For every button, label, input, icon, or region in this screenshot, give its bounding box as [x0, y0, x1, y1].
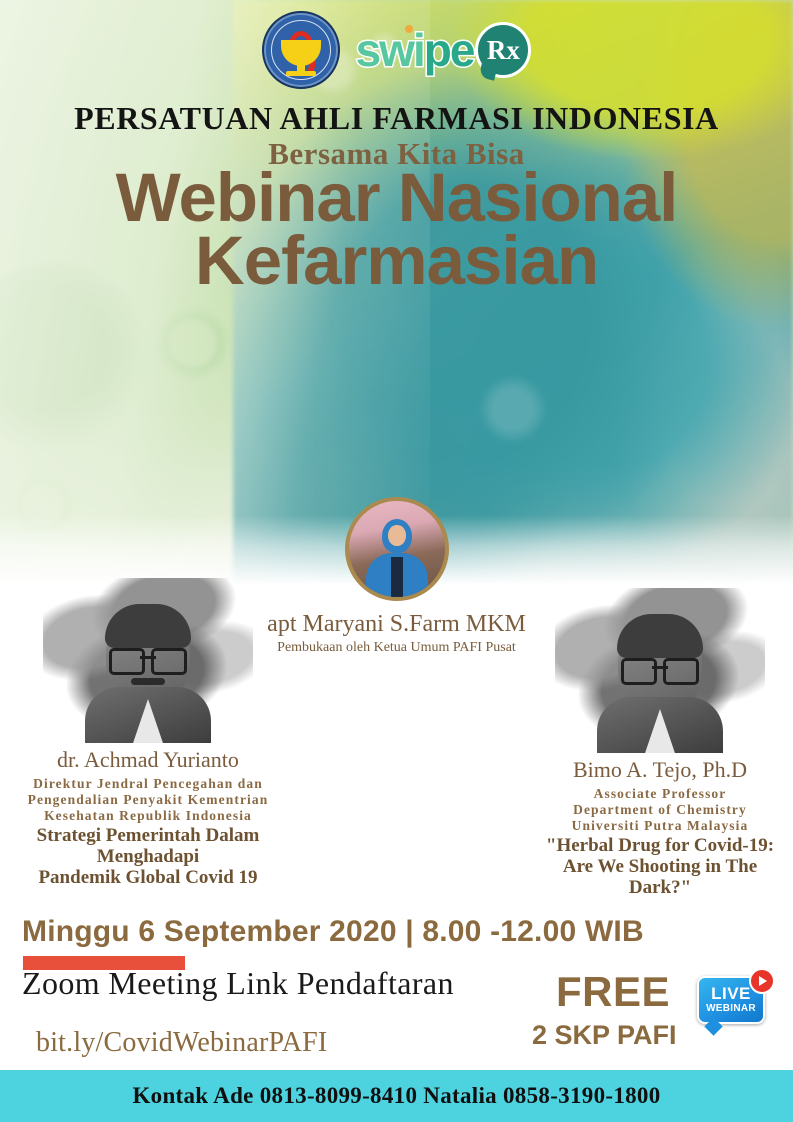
swipe-word-part2: pe: [424, 24, 474, 76]
credits-label: 2 SKP PAFI: [532, 1020, 677, 1051]
registration-link[interactable]: bit.ly/CovidWebinarPAFI: [36, 1027, 327, 1059]
pafi-logo-icon: [262, 11, 340, 89]
speaker-right-role: Associate Professor Department of Chemis…: [535, 786, 785, 834]
contact-bar: Kontak Ade 0813-8099-8410 Natalia 0858-3…: [0, 1070, 793, 1122]
speaker-left-topic-line-1: Strategi Pemerintah Dalam Menghadapi: [18, 826, 278, 868]
title-line-2: Kefarmasian: [0, 229, 793, 292]
speaker-right-topic-line-2: Are We Shooting in The Dark?": [535, 857, 785, 899]
center-speaker-subtitle: Pembukaan oleh Ketua Umum PAFI Pusat: [0, 640, 793, 656]
center-speaker-name: apt Maryani S.Farm MKM: [0, 611, 793, 638]
price-label: FREE: [556, 968, 670, 1016]
glasses-bridge: [140, 656, 156, 659]
pafi-base-icon: [286, 71, 316, 76]
rx-bubble-icon: Rx: [475, 22, 531, 78]
speaker-left-role-line-2: Pengendalian Penyakit Kementrian: [18, 792, 278, 808]
webinar-poster: swipe Rx PERSATUAN AHLI FARMASI INDONESI…: [0, 0, 793, 1122]
avatar-body: [366, 553, 428, 601]
live-badge-line-2: WEBINAR: [697, 1003, 765, 1014]
speaker-right-name: Bimo A. Tejo, Ph.D: [535, 757, 785, 783]
speaker-left-topic: Strategi Pemerintah Dalam Menghadapi Pan…: [18, 826, 278, 889]
speaker-right-role-line-3: Universiti Putra Malaysia: [535, 818, 785, 834]
schedule-text: Minggu 6 September 2020 | 8.00 -12.00 WI…: [22, 915, 644, 949]
organization-title: PERSATUAN AHLI FARMASI INDONESIA: [0, 100, 793, 137]
center-speaker: apt Maryani S.Farm MKM Pembukaan oleh Ke…: [0, 497, 793, 656]
rx-label: Rx: [487, 37, 520, 64]
swipe-word-part1: swi: [356, 24, 424, 76]
live-webinar-badge: LIVE WEBINAR: [697, 972, 773, 1034]
avatar: [345, 497, 449, 601]
swiperx-logo: swipe Rx: [356, 22, 532, 78]
contact-text: Kontak Ade 0813-8099-8410 Natalia 0858-3…: [132, 1083, 660, 1109]
speaker-left-topic-line-2: Pandemik Global Covid 19: [18, 868, 278, 889]
speaker-right-topic-line-1: "Herbal Drug for Covid-19:: [535, 836, 785, 857]
speaker-right-topic: "Herbal Drug for Covid-19: Are We Shooti…: [535, 836, 785, 899]
speaker-left-role-line-3: Kesehatan Republik Indonesia: [18, 808, 278, 824]
speaker-right-role-line-2: Department of Chemistry: [535, 802, 785, 818]
page-title: Webinar Nasional Kefarmasian: [0, 166, 793, 293]
speaker-right-role-line-1: Associate Professor: [535, 786, 785, 802]
speaker-left-role: Direktur Jendral Pencegahan dan Pengenda…: [18, 776, 278, 824]
live-badge-line-1: LIVE: [697, 984, 765, 1004]
speaker-left-role-line-1: Direktur Jendral Pencegahan dan: [18, 776, 278, 792]
speaker-left-name: dr. Achmad Yurianto: [18, 747, 278, 773]
logo-row: swipe Rx: [0, 6, 793, 94]
glasses-bridge: [652, 666, 668, 669]
avatar-face: [388, 525, 406, 546]
portrait-mustache: [131, 678, 165, 685]
swipe-dot-icon: [405, 25, 413, 33]
zoom-meeting-label: Zoom Meeting Link Pendaftaran: [22, 965, 454, 1002]
glasses-icon: [621, 658, 699, 680]
swipe-wordmark: swipe: [356, 27, 474, 73]
